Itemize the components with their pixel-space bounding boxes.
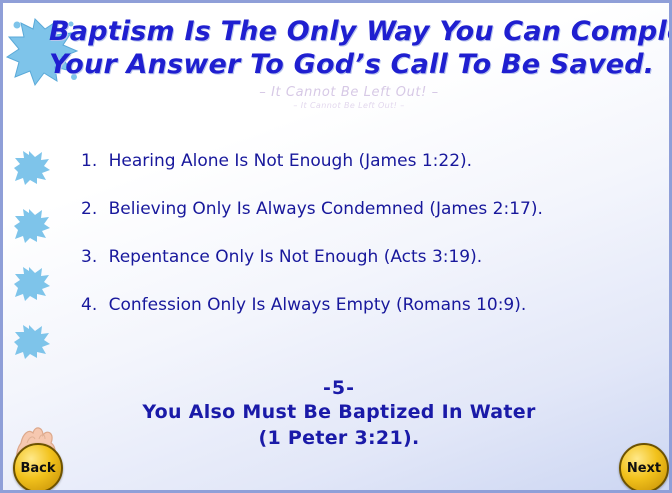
list-item-text: Believing Only Is Always Condemned (Jame… [109,199,543,219]
list-item-text: Hearing Alone Is Not Enough (James 1:22)… [109,151,472,171]
list-item-text: Confession Only Is Always Empty (Romans … [109,295,527,315]
footer-line-1: You Also Must Be Baptized In Water [3,399,672,425]
slide-title: Baptism Is The Only Way You Can Complete… [49,15,649,110]
ink-splat-icon [13,207,51,243]
title-line-2: Your Answer To God’s Call To Be Saved. [49,48,649,81]
points-list: 1. Hearing Alone Is Not Enough (James 1:… [81,151,641,343]
next-button[interactable]: Next [619,443,669,493]
back-button[interactable]: Back [13,443,63,493]
list-item: 2. Believing Only Is Always Condemned (J… [81,199,641,219]
ink-splat-icon [13,323,51,359]
slide-footer: -5- You Also Must Be Baptized In Water (… [3,377,672,451]
page-number: -5- [3,377,672,399]
list-item-number: 2. [81,199,97,219]
footer-line-2: (1 Peter 3:21). [3,425,672,451]
list-item: 4. Confession Only Is Always Empty (Roma… [81,295,641,315]
list-item: 1. Hearing Alone Is Not Enough (James 1:… [81,151,641,171]
ink-splat-icon [13,265,51,301]
list-item: 3. Repentance Only Is Not Enough (Acts 3… [81,247,641,267]
slide-subtitle: – It Cannot Be Left Out! – [49,85,649,100]
ink-splat-icon [13,149,51,185]
list-item-number: 1. [81,151,97,171]
list-item-number: 4. [81,295,97,315]
title-line-1: Baptism Is The Only Way You Can Complete [49,15,649,48]
list-item-text: Repentance Only Is Not Enough (Acts 3:19… [109,247,483,267]
slide-subtitle-shadow: – It Cannot Be Left Out! – [49,101,649,110]
next-button-label: Next [627,461,661,476]
back-button-label: Back [20,461,55,476]
slide-canvas: Baptism Is The Only Way You Can Complete… [0,0,672,493]
list-item-number: 3. [81,247,97,267]
